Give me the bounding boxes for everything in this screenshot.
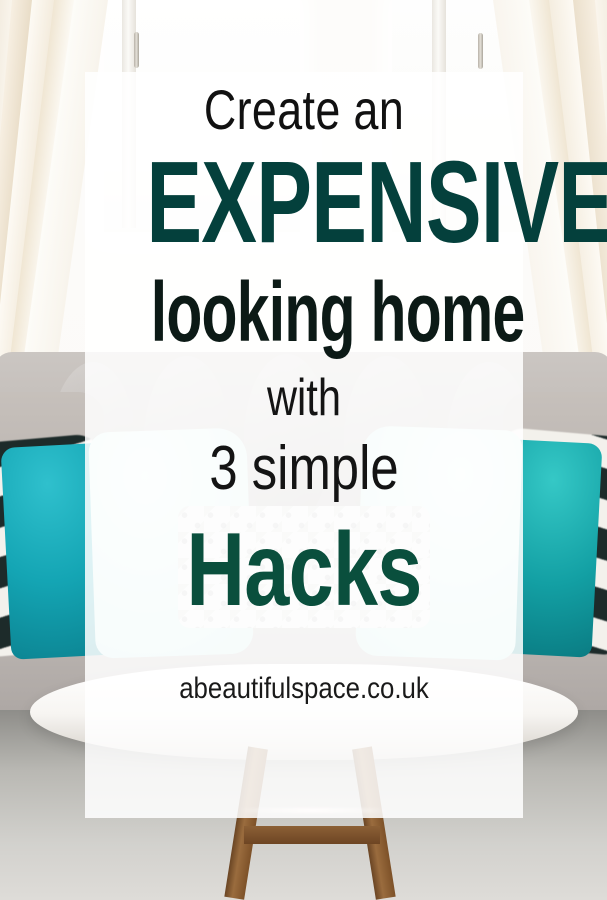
pin-text-block: Create an EXPENSIVE looking home with 3 … bbox=[85, 72, 523, 818]
headline-line-looking-home: looking home bbox=[151, 270, 458, 354]
website-url: abeautifulspace.co.uk bbox=[116, 674, 493, 704]
coffee-table-stretcher bbox=[244, 826, 380, 844]
pinterest-pin-graphic: Create an EXPENSIVE looking home with 3 … bbox=[0, 0, 607, 900]
window-handle-left bbox=[134, 32, 139, 68]
headline-line-hacks: Hacks bbox=[133, 518, 475, 622]
headline-line-expensive: EXPENSIVE bbox=[146, 144, 461, 260]
headline-line-3-simple: 3 simple bbox=[124, 438, 483, 500]
headline-line-with: with bbox=[129, 372, 479, 424]
headline-line-create: Create an bbox=[129, 82, 479, 138]
